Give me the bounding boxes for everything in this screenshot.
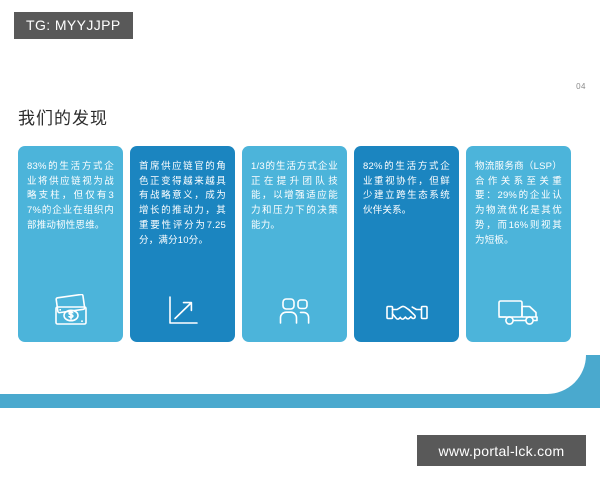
bottom-accent-band	[0, 394, 600, 408]
page-number: 04	[576, 82, 586, 91]
people-team-icon	[242, 294, 347, 328]
delivery-truck-icon	[466, 296, 571, 328]
finding-card-text: 1/3的生活方式企业正在提升团队技能，以增强适应能力和压力下的决策能力。	[251, 160, 338, 234]
money-banknotes-icon	[18, 294, 123, 328]
growth-arrow-chart-icon	[130, 294, 235, 328]
bottom-accent-curve	[544, 355, 600, 408]
watermark-url: www.portal-lck.com	[417, 435, 586, 466]
finding-card-text: 82%的生活方式企业重视协作，但鲜少建立跨生态系统伙伴关系。	[363, 160, 450, 219]
findings-card-list: 83%的生活方式企业将供应链视为战略支柱，但仅有37%的企业在组织内部推动韧性思…	[18, 146, 582, 342]
finding-card-text: 83%的生活方式企业将供应链视为战略支柱，但仅有37%的企业在组织内部推动韧性思…	[27, 160, 114, 234]
handshake-icon	[354, 298, 459, 328]
finding-card-4[interactable]: 82%的生活方式企业重视协作，但鲜少建立跨生态系统伙伴关系。	[354, 146, 459, 342]
tag-chip: TG: MYYJJPP	[14, 12, 133, 39]
finding-card-text: 物流服务商（LSP）合作关系至关重要：29%的企业认为物流优化是其优势，而16%…	[475, 160, 562, 248]
finding-card-1[interactable]: 83%的生活方式企业将供应链视为战略支柱，但仅有37%的企业在组织内部推动韧性思…	[18, 146, 123, 342]
finding-card-3[interactable]: 1/3的生活方式企业正在提升团队技能，以增强适应能力和压力下的决策能力。	[242, 146, 347, 342]
page-title: 我们的发现	[18, 104, 108, 129]
finding-card-5[interactable]: 物流服务商（LSP）合作关系至关重要：29%的企业认为物流优化是其优势，而16%…	[466, 146, 571, 342]
finding-card-text: 首席供应链官的角色正变得越来越具有战略意义，成为增长的推动力，其重要性评分为7.…	[139, 160, 226, 248]
finding-card-2[interactable]: 首席供应链官的角色正变得越来越具有战略意义，成为增长的推动力，其重要性评分为7.…	[130, 146, 235, 342]
